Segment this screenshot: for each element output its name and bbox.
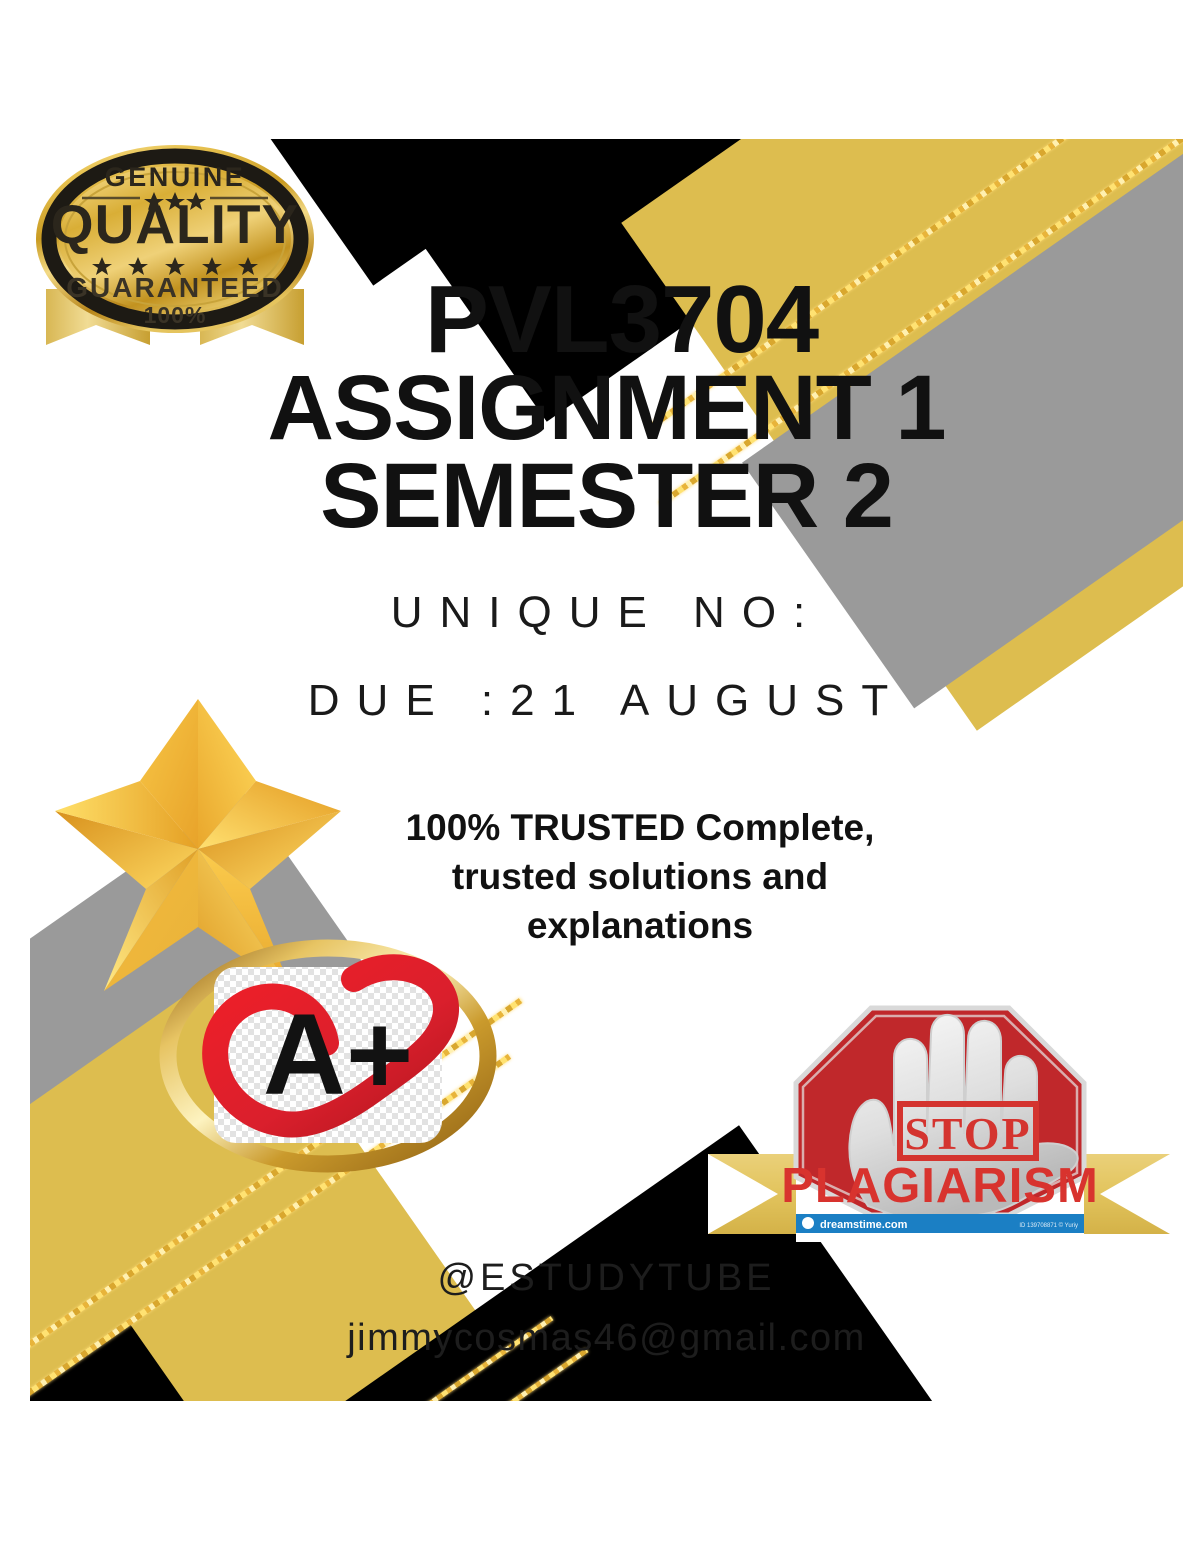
assignment-title: ASSIGNMENT 1 bbox=[30, 365, 1183, 452]
stop-stamp-text: STOP bbox=[904, 1108, 1031, 1159]
watermark-bar: dreamstime.com ID 139708871 © Yuriy bbox=[796, 1214, 1084, 1233]
unique-no-label: UNIQUE NO: bbox=[30, 588, 1183, 638]
trusted-line-1: 100% TRUSTED Complete, bbox=[360, 804, 920, 853]
stop-plagiarism-badge: STOP PLAGIARISM dreamstime.com ID 139708… bbox=[700, 994, 1180, 1264]
stop-stamp: STOP bbox=[900, 1104, 1036, 1159]
contact-email: jimmycosmas46@gmail.com bbox=[30, 1317, 1183, 1360]
trusted-message: 100% TRUSTED Complete, trusted solutions… bbox=[360, 804, 920, 950]
social-handle: @ESTUDYTUBE bbox=[30, 1257, 1183, 1300]
aplus-grade-badge: A+ bbox=[158, 939, 498, 1174]
title-block: PVL3704 ASSIGNMENT 1 SEMESTER 2 UNIQUE N… bbox=[30, 274, 1183, 726]
semester-title: SEMESTER 2 bbox=[30, 453, 1183, 540]
course-code-title: PVL3704 bbox=[60, 274, 1183, 365]
plagiarism-banner-text: PLAGIARISM bbox=[781, 1159, 1099, 1213]
trusted-line-2: trusted solutions and bbox=[360, 853, 920, 902]
watermark-text: dreamstime.com bbox=[820, 1219, 908, 1231]
badge-line-genuine: GENUINE bbox=[105, 162, 246, 192]
plagiarism-icon: STOP PLAGIARISM dreamstime.com ID 139708… bbox=[700, 994, 1180, 1264]
trusted-line-3: explanations bbox=[360, 902, 920, 951]
aplus-icon: A+ bbox=[158, 939, 498, 1174]
badge-line-quality: QUALITY bbox=[51, 193, 299, 255]
due-date-label: DUE :21 AUGUST bbox=[30, 676, 1183, 726]
poster-canvas: GENUINE QUALITY GUARANTEED 100% bbox=[30, 139, 1183, 1401]
aplus-grade-text: A+ bbox=[263, 991, 413, 1119]
watermark-right-text: ID 139708871 © Yuriy bbox=[1019, 1222, 1078, 1229]
